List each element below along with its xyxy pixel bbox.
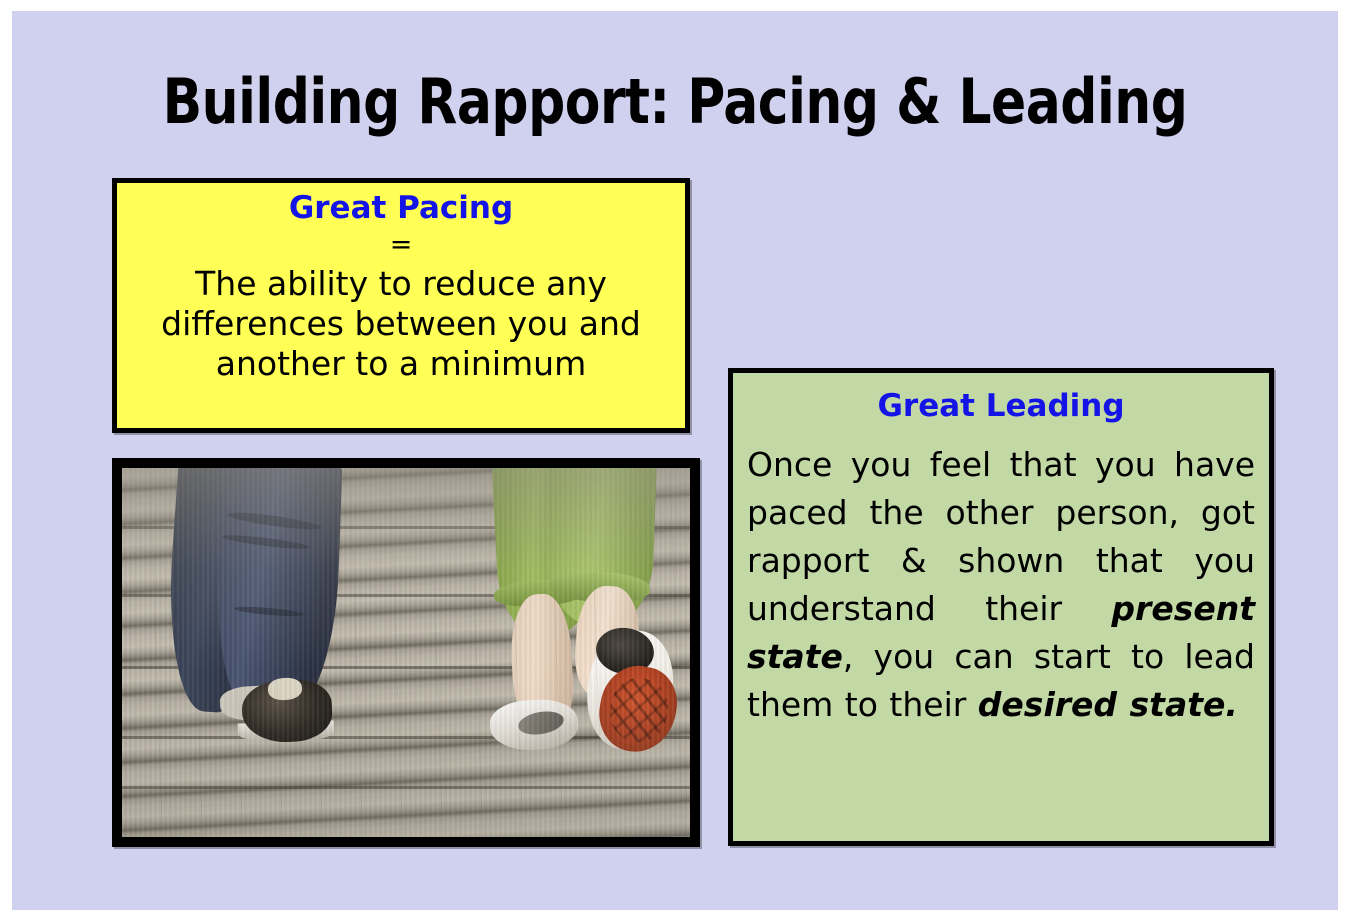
great-leading-body-text: Once you feel that you have paced the ot… <box>747 441 1255 729</box>
equals-sign: = <box>117 228 685 262</box>
slide-canvas: Building Rapport: Pacing & Leading Great… <box>12 11 1338 910</box>
photo-image <box>122 468 690 837</box>
page-title: Building Rapport: Pacing & Leading <box>58 67 1291 137</box>
great-pacing-card: Great Pacing = The ability to reduce any… <box>112 178 690 433</box>
desired-state-emphasis: desired state. <box>978 685 1238 724</box>
great-pacing-heading: Great Pacing <box>117 188 685 228</box>
walking-people-photo <box>112 458 700 847</box>
great-leading-heading: Great Leading <box>733 385 1269 427</box>
great-pacing-body-text: The ability to reduce any differences be… <box>123 264 679 384</box>
photo-depth-shading <box>122 468 690 837</box>
great-leading-card: Great Leading Once you feel that you hav… <box>728 368 1274 846</box>
